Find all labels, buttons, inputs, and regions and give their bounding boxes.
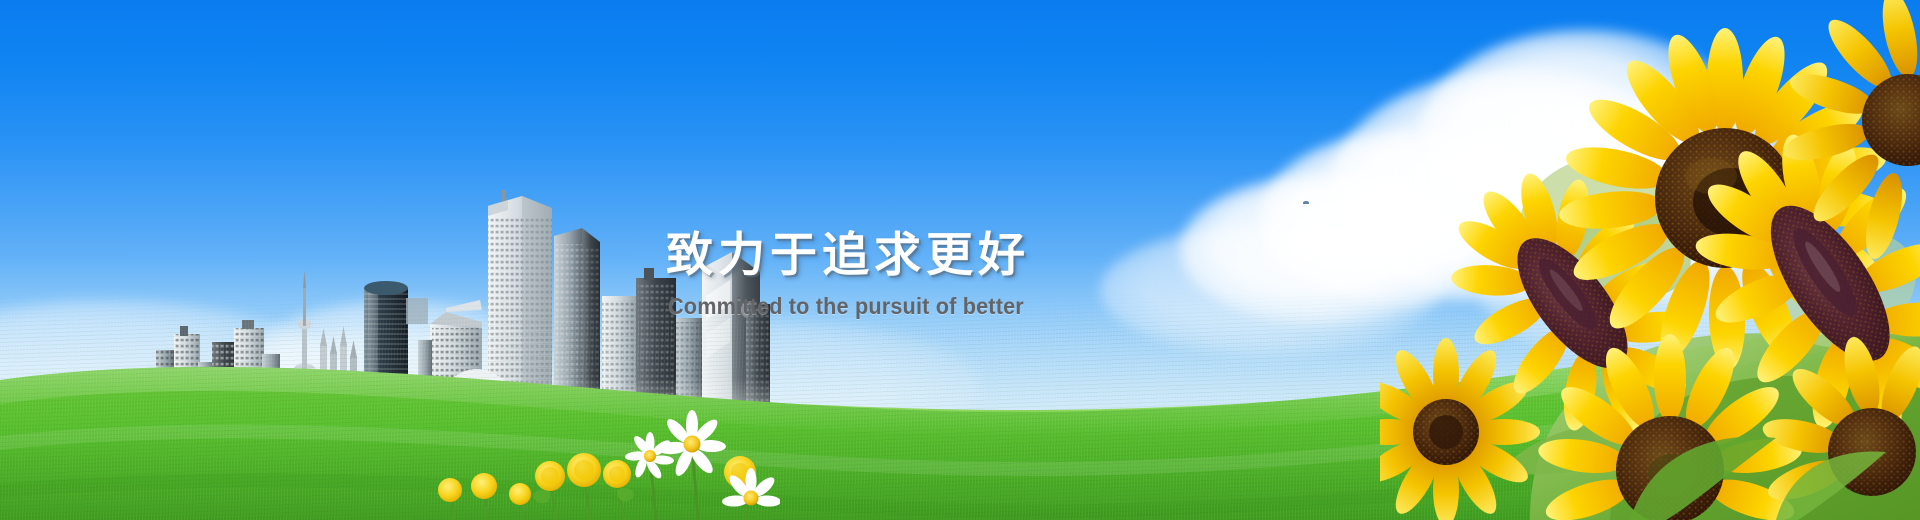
page-subtitle: Committed to the pursuit of better	[668, 292, 1155, 320]
dandelion-cluster-left	[432, 450, 552, 520]
daisy-dandelion-cluster	[520, 400, 780, 520]
banner-caption: 致力于追求更好 Committed to the pursuit of bett…	[666, 228, 1186, 320]
sunflower-cluster	[1380, 0, 1920, 520]
hero-banner: 致力于追求更好 Committed to the pursuit of bett…	[0, 0, 1920, 520]
page-title: 致力于追求更好	[666, 228, 1186, 282]
